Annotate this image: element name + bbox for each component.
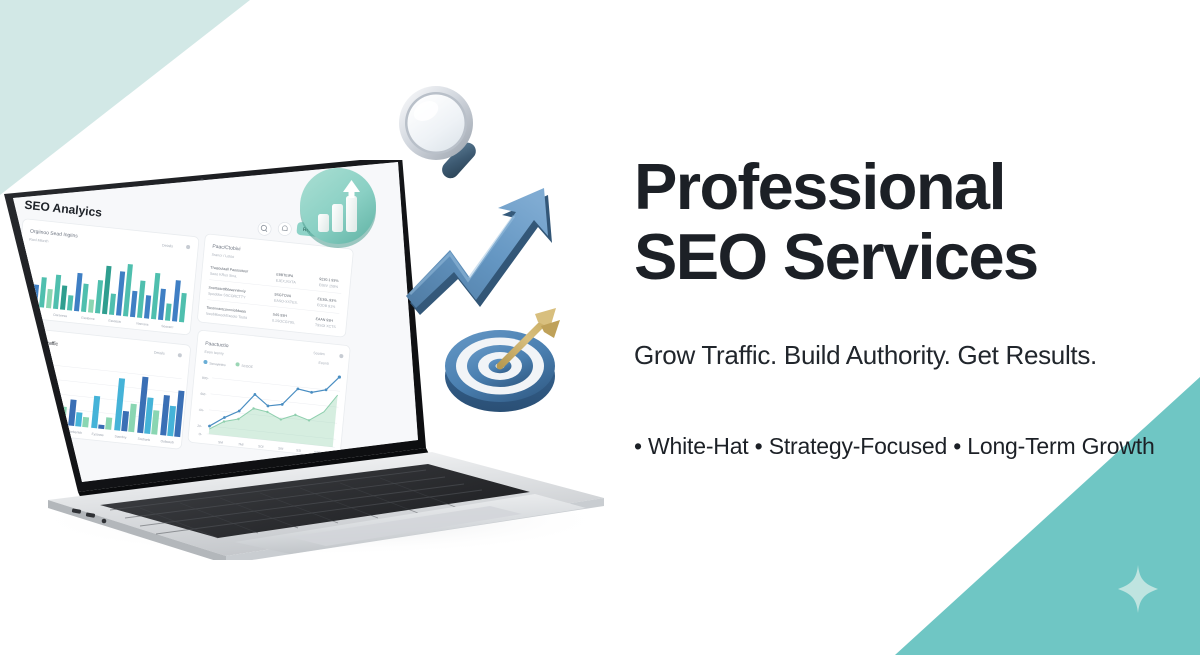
svg-text:SM: SM xyxy=(218,440,223,445)
svg-text:80S-: 80S- xyxy=(202,376,209,381)
svg-text:Oosbees: Oosbees xyxy=(22,425,36,430)
page-title: ProfessionalSEO Services xyxy=(634,152,1174,292)
bar-chart-badge-icon xyxy=(296,166,380,250)
seo-services-banner: SEO Analyics Repo Orgiinoo Sead Ingiins … xyxy=(0,0,1200,655)
svg-text:20-: 20- xyxy=(197,424,202,428)
magnifier-icon xyxy=(388,78,503,193)
svg-text:SSI: SSI xyxy=(296,448,302,453)
svg-text:SRI: SRI xyxy=(278,446,284,451)
svg-text:6RI-: 6RI- xyxy=(200,392,206,397)
feature-list: • White-Hat • Strategy-Focused • Long-Te… xyxy=(634,433,1174,460)
svg-text:O-: O- xyxy=(198,432,202,436)
headline-line-1: Professional xyxy=(634,150,1005,223)
sparkle-star-icon xyxy=(1118,565,1158,613)
svg-text:TMI: TMI xyxy=(238,442,244,447)
hero-text-column: ProfessionalSEO Services Grow Traffic. B… xyxy=(634,152,1174,460)
svg-text:4A-: 4A- xyxy=(199,408,204,413)
headline-line-2: SEO Services xyxy=(634,222,1174,292)
svg-text:SOI: SOI xyxy=(258,444,264,449)
svg-text:Eenvons: Eenvons xyxy=(45,427,58,432)
subheadline: Grow Traffic. Build Authority. Get Resul… xyxy=(634,340,1174,371)
target-icon xyxy=(438,300,570,422)
